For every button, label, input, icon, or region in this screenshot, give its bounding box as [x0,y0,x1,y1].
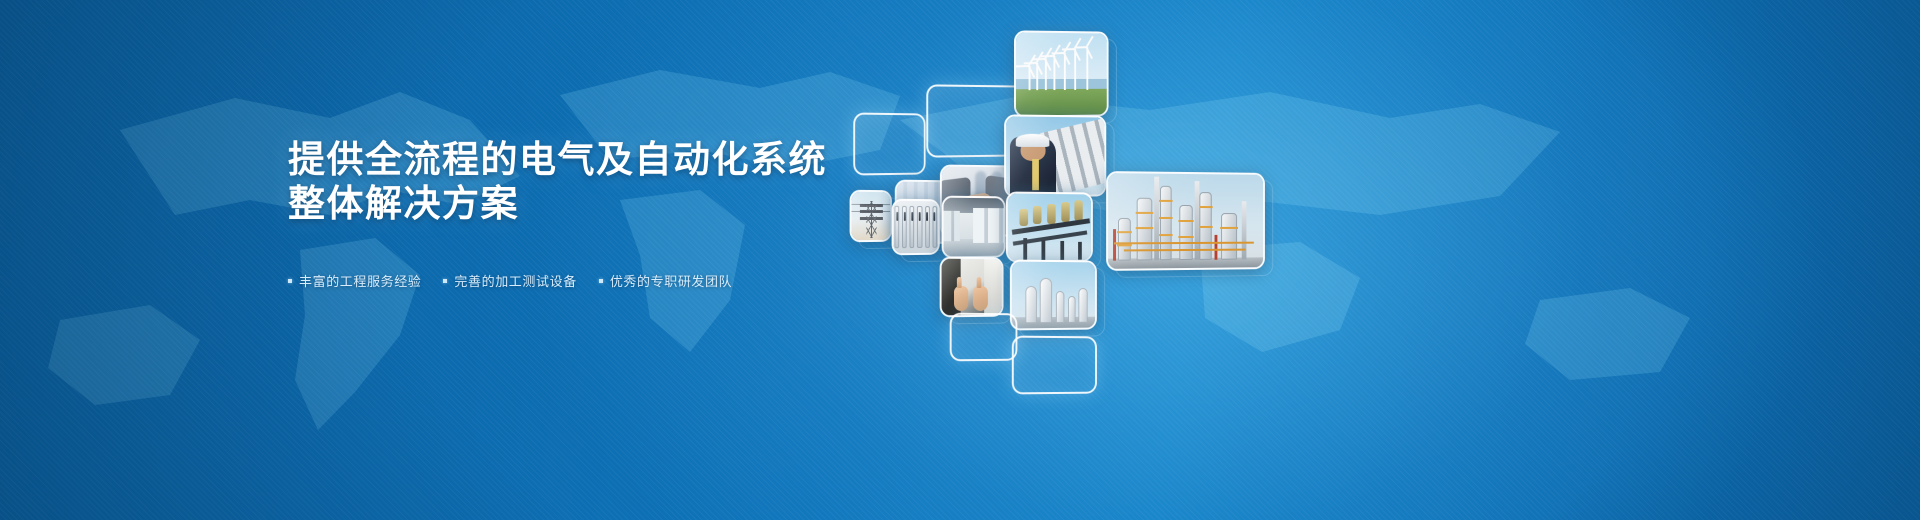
bullet-label-2: 完善的加工测试设备 [454,271,576,290]
photo-refinery-large [1106,171,1265,271]
bullet-label-3: 优秀的专职研发团队 [610,271,732,290]
banner-headline: 提供全流程的电气及自动化系统 整体解决方案 [288,138,1048,226]
empty-tile-bottom-left [950,313,1018,362]
headline-line-1: 提供全流程的电气及自动化系统 [288,138,1048,182]
bullet-square-icon [599,279,603,283]
banner-bullet-list: 丰富的工程服务经验 完善的加工测试设备 优秀的专职研发团队 [288,271,1048,290]
bullet-item-1: 丰富的工程服务经验 [288,271,421,290]
bullet-item-2: 完善的加工测试设备 [443,271,576,290]
bullet-item-3: 优秀的专职研发团队 [599,271,732,290]
bullet-square-icon [443,279,447,283]
bullet-square-icon [288,279,292,283]
photo-wind-turbines [1014,30,1109,117]
empty-tile-bottom-right [1012,336,1097,395]
headline-line-2: 整体解决方案 [288,182,1048,226]
hero-banner: 提供全流程的电气及自动化系统 整体解决方案 丰富的工程服务经验 完善的加工测试设… [0,0,1920,520]
banner-copy: 提供全流程的电气及自动化系统 整体解决方案 丰富的工程服务经验 完善的加工测试设… [288,138,1048,290]
bullet-label-1: 丰富的工程服务经验 [299,271,421,290]
